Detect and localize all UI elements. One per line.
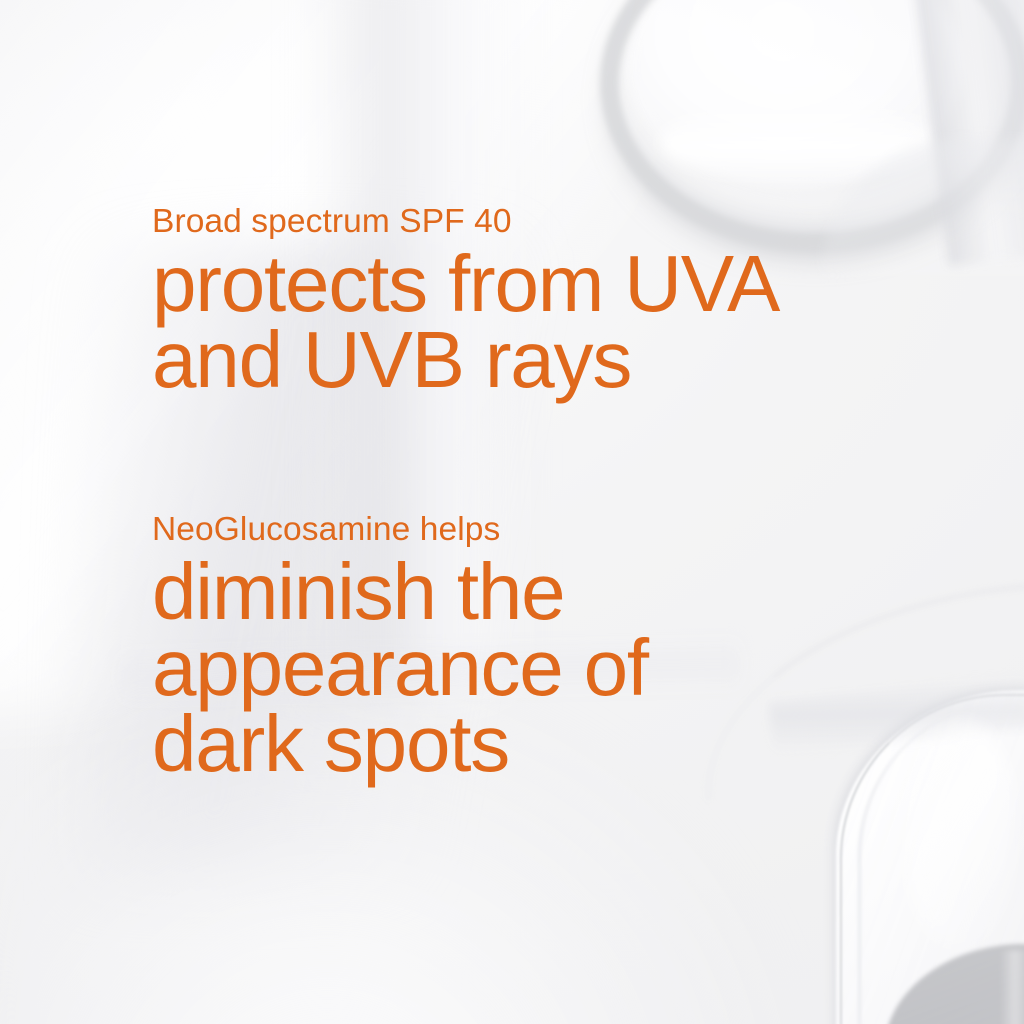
benefit-block-neoglucosamine: NeoGlucosamine helps diminish the appear…: [152, 511, 648, 782]
spf-headline: protects from UVA and UVB rays: [152, 246, 779, 398]
product-benefit-card: Broad spectrum SPF 40 protects from UVA …: [0, 0, 1024, 1024]
copy-layer: Broad spectrum SPF 40 protects from UVA …: [0, 0, 1024, 1024]
neoglucosamine-headline: diminish the appearance of dark spots: [152, 554, 648, 782]
spf-eyebrow: Broad spectrum SPF 40: [152, 203, 779, 242]
neoglucosamine-eyebrow: NeoGlucosamine helps: [152, 511, 648, 550]
benefit-block-spf: Broad spectrum SPF 40 protects from UVA …: [152, 203, 779, 398]
